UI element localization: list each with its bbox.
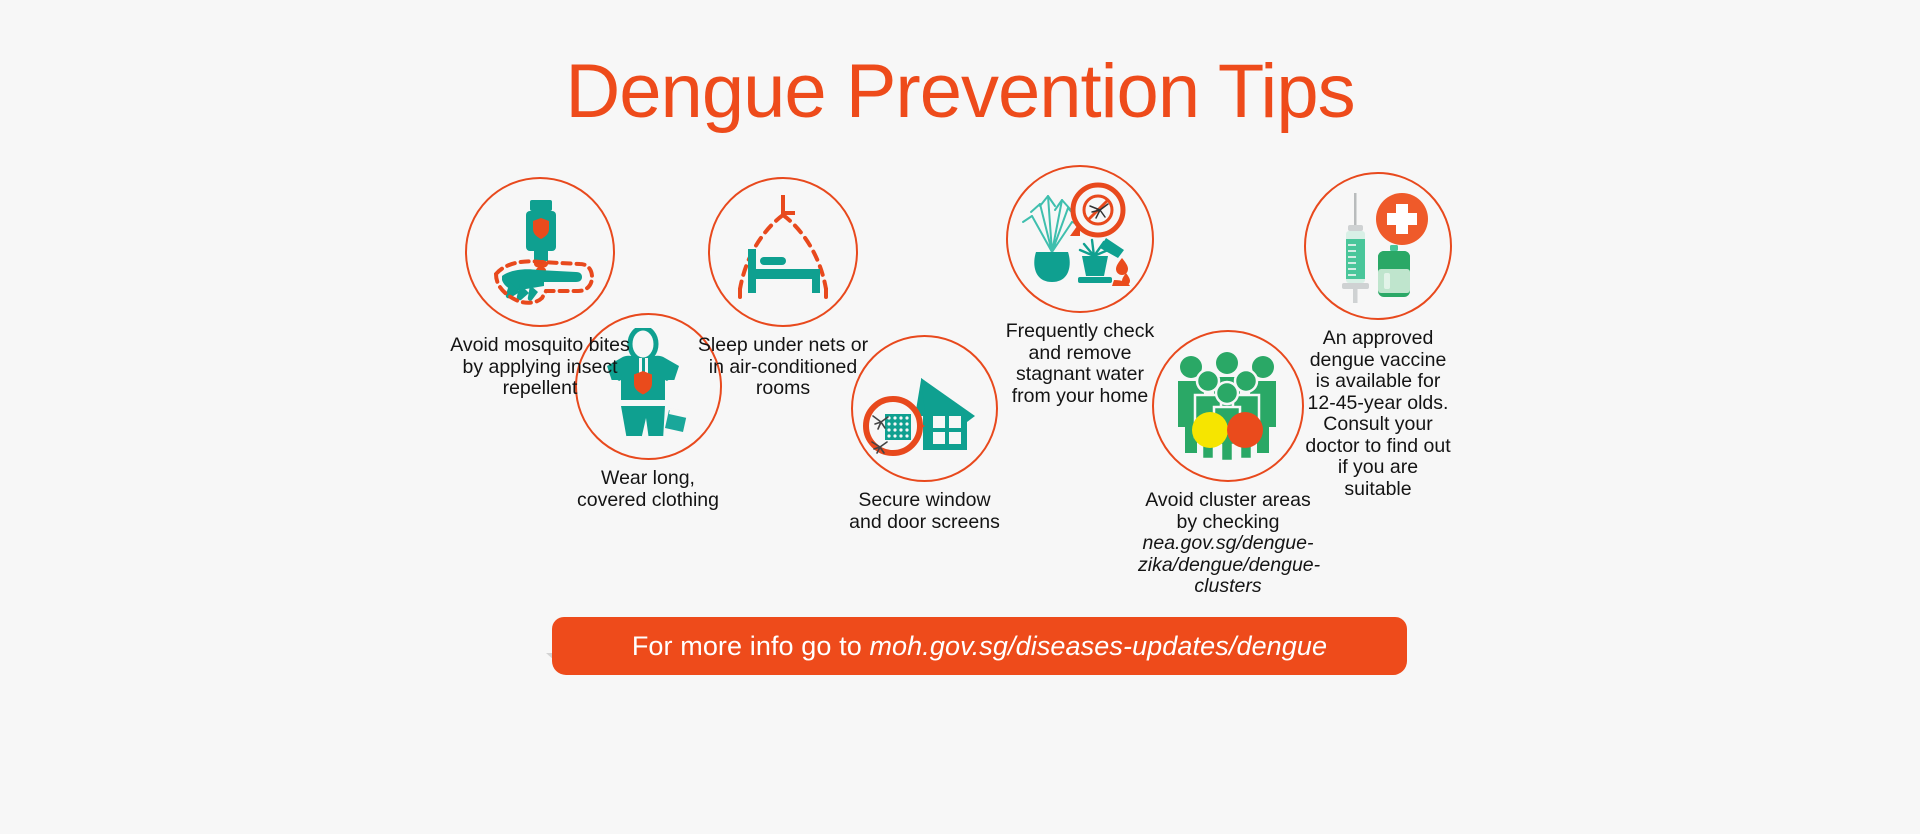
plant-pot-stagnant-water-icon bbox=[1018, 178, 1142, 300]
footer-prefix: For more info go to bbox=[632, 631, 870, 661]
tip-nets-bubble bbox=[708, 177, 858, 327]
tip-cluster-caption-prefix: Avoid cluster areas by checking bbox=[1145, 489, 1310, 533]
tip-repellent-bubble bbox=[465, 177, 615, 327]
tip-cluster-caption: Avoid cluster areas by checking nea.gov.… bbox=[1138, 490, 1318, 598]
tip-cluster-bubble bbox=[1152, 330, 1304, 482]
footer-banner[interactable]: For more info go to moh.gov.sg/diseases-… bbox=[552, 617, 1407, 675]
footer-url: moh.gov.sg/diseases-updates/dengue bbox=[869, 631, 1327, 661]
tip-nets-caption: Sleep under nets or in air-conditioned r… bbox=[697, 335, 869, 400]
tip-repellent-caption: Avoid mosquito bites by applying insect … bbox=[450, 335, 630, 400]
bed-with-mosquito-net-icon bbox=[720, 193, 846, 311]
tip-screens-bubble bbox=[851, 335, 998, 482]
tip-nets: Sleep under nets or in air-conditioned r… bbox=[697, 177, 869, 400]
people-cluster-icon bbox=[1167, 351, 1289, 461]
tip-stagnant-bubble bbox=[1006, 165, 1154, 313]
tip-vaccine-bubble bbox=[1304, 172, 1452, 320]
tip-stagnant-caption: Frequently check and remove stagnant wat… bbox=[1000, 321, 1160, 407]
dengue-prevention-infographic: Dengue Prevention Tips bbox=[0, 0, 1920, 834]
tip-cluster-caption-url: nea.gov.sg/dengue-zika/dengue/dengue-clu… bbox=[1138, 532, 1320, 597]
tip-vaccine: An approved dengue vaccine is available … bbox=[1303, 172, 1453, 500]
tip-cluster: Avoid cluster areas by checking nea.gov.… bbox=[1138, 330, 1318, 598]
syringe-vaccine-vial-icon bbox=[1318, 187, 1438, 305]
tip-screens: Secure window and door screens bbox=[847, 335, 1002, 533]
footer-banner-text: For more info go to moh.gov.sg/diseases-… bbox=[632, 631, 1327, 662]
tip-repellent: Avoid mosquito bites by applying insect … bbox=[450, 177, 630, 400]
tip-screens-caption: Secure window and door screens bbox=[847, 490, 1002, 533]
tip-vaccine-caption: An approved dengue vaccine is available … bbox=[1303, 328, 1453, 500]
page-title: Dengue Prevention Tips bbox=[0, 48, 1920, 135]
repellent-bottle-hand-icon bbox=[480, 192, 600, 312]
tip-clothing-caption: Wear long, covered clothing bbox=[568, 468, 728, 511]
house-window-screen-mosquito-icon bbox=[863, 354, 987, 464]
tip-stagnant: Frequently check and remove stagnant wat… bbox=[1000, 165, 1160, 407]
